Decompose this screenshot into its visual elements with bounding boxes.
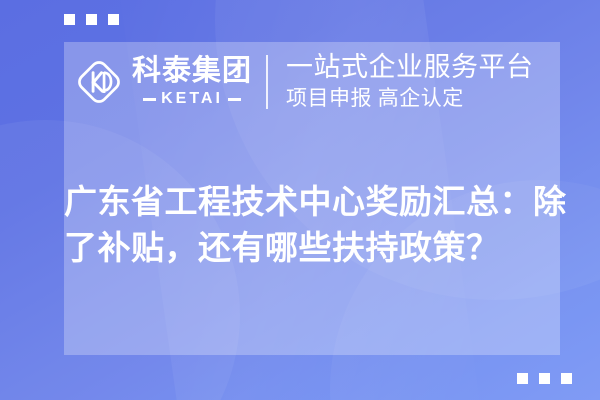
brand-name-en-row: KETAI bbox=[143, 91, 241, 107]
banner-header: 科泰集团 KETAI 一站式企业服务平台 项目申报 高企认定 bbox=[64, 42, 560, 122]
page-title: 广东省工程技术中心奖励汇总：除了补贴，还有哪些扶持政策？ bbox=[64, 179, 568, 271]
brand-rule-left-icon bbox=[143, 98, 156, 101]
decor-square-icon bbox=[108, 14, 119, 25]
header-divider bbox=[266, 55, 268, 109]
decor-square-icon bbox=[517, 373, 528, 384]
tagline-block: 一站式企业服务平台 项目申报 高企认定 bbox=[286, 53, 534, 111]
decor-dots-top-left bbox=[64, 14, 119, 25]
decor-square-icon bbox=[561, 373, 572, 384]
brand-name-cn: 科泰集团 bbox=[132, 57, 252, 86]
brand-text-block: 科泰集团 KETAI bbox=[132, 57, 252, 107]
banner-canvas: 科泰集团 KETAI 一站式企业服务平台 项目申报 高企认定 广东省工程技术中心… bbox=[0, 0, 600, 400]
decor-square-icon bbox=[64, 14, 75, 25]
kd-monogram-icon bbox=[72, 55, 126, 109]
brand-name-en: KETAI bbox=[161, 91, 223, 107]
decor-square-icon bbox=[539, 373, 550, 384]
decor-dots-bottom-right bbox=[517, 373, 572, 384]
brand-rule-right-icon bbox=[228, 98, 241, 101]
decor-square-icon bbox=[86, 14, 97, 25]
brand-lockup: 科泰集团 KETAI bbox=[64, 55, 252, 109]
tagline-secondary: 项目申报 高企认定 bbox=[286, 85, 534, 111]
tagline-primary: 一站式企业服务平台 bbox=[286, 53, 534, 82]
